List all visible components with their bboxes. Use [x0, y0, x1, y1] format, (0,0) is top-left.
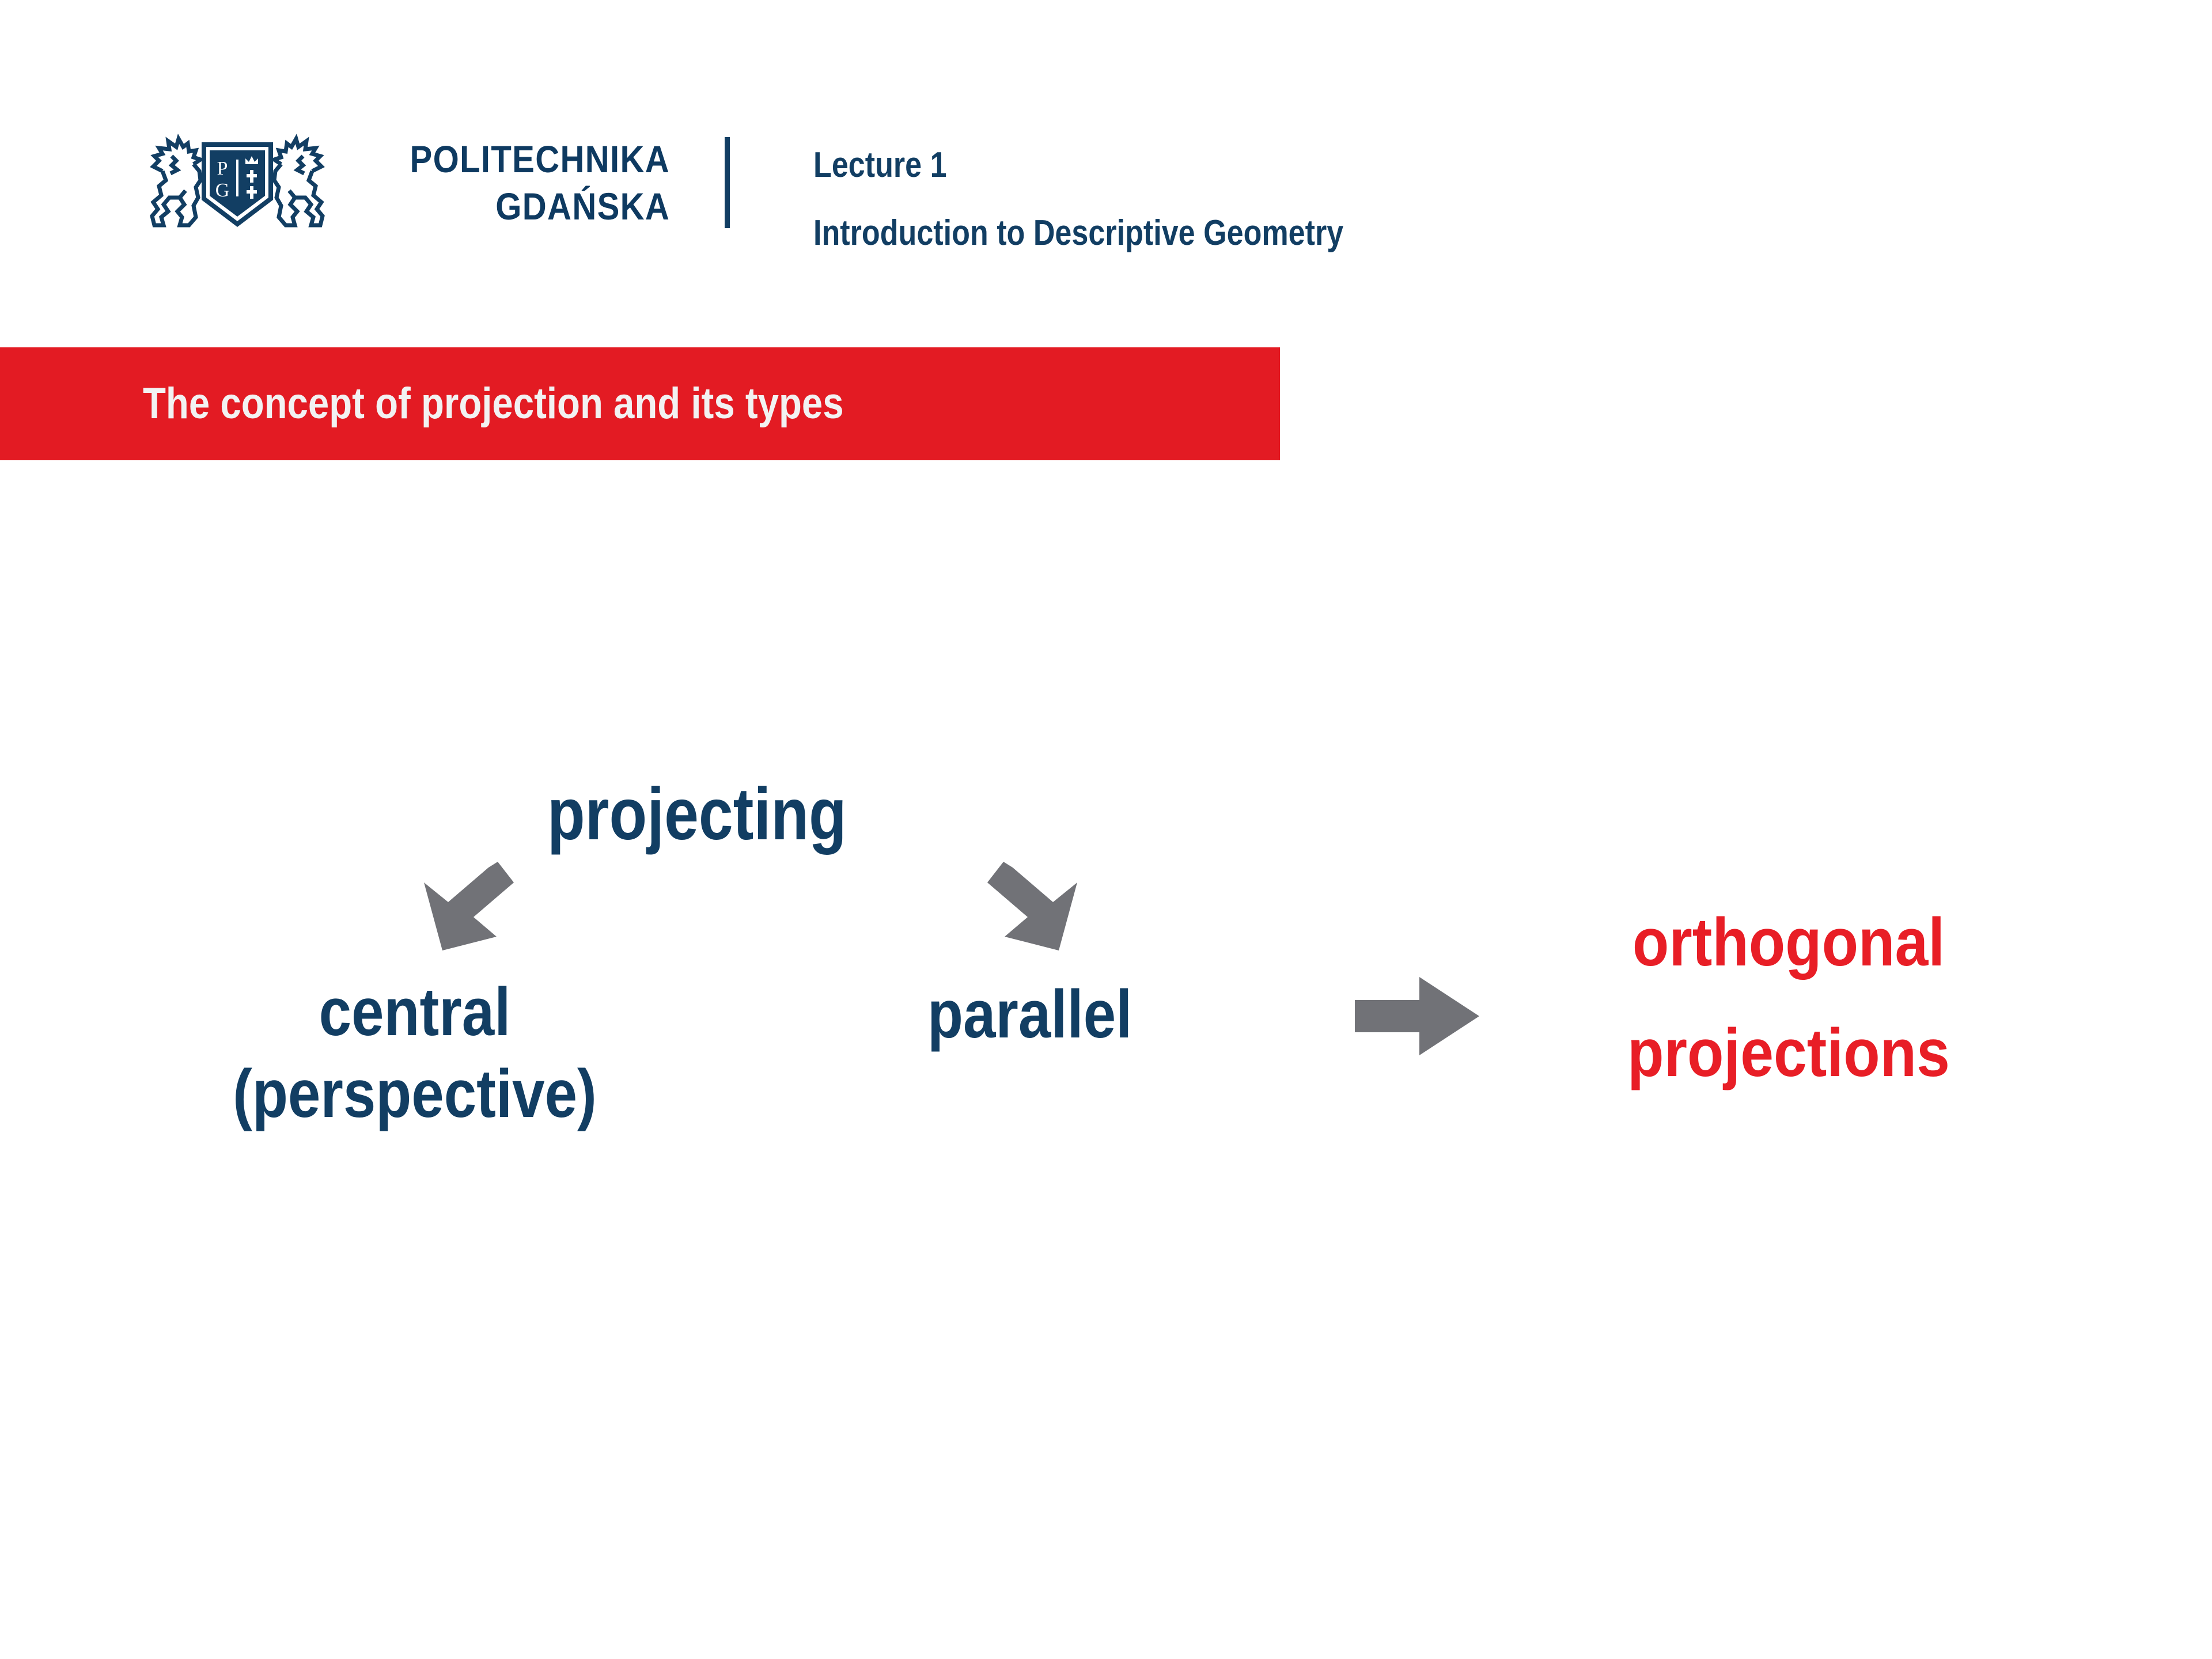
diagram-node-central-line-1: central — [177, 971, 653, 1053]
arrow-right-icon — [1355, 977, 1482, 1055]
arrow-down-right-icon — [979, 847, 1094, 962]
diagram-node-orthogonal-line-1: orthogonal — [1553, 887, 2024, 998]
diagram-node-parallel: parallel — [927, 974, 1132, 1055]
diagram-node-orthogonal-line-2: projections — [1553, 998, 2024, 1108]
projection-types-diagram: projecting central (perspective) paralle… — [0, 0, 2212, 1659]
arrow-down-left-icon — [407, 847, 522, 962]
diagram-node-orthogonal-projections: orthogonal projections — [1521, 887, 2056, 1108]
diagram-node-central-line-2: (perspective) — [177, 1053, 653, 1135]
diagram-node-central: central (perspective) — [138, 971, 691, 1135]
diagram-node-projecting: projecting — [547, 771, 847, 858]
